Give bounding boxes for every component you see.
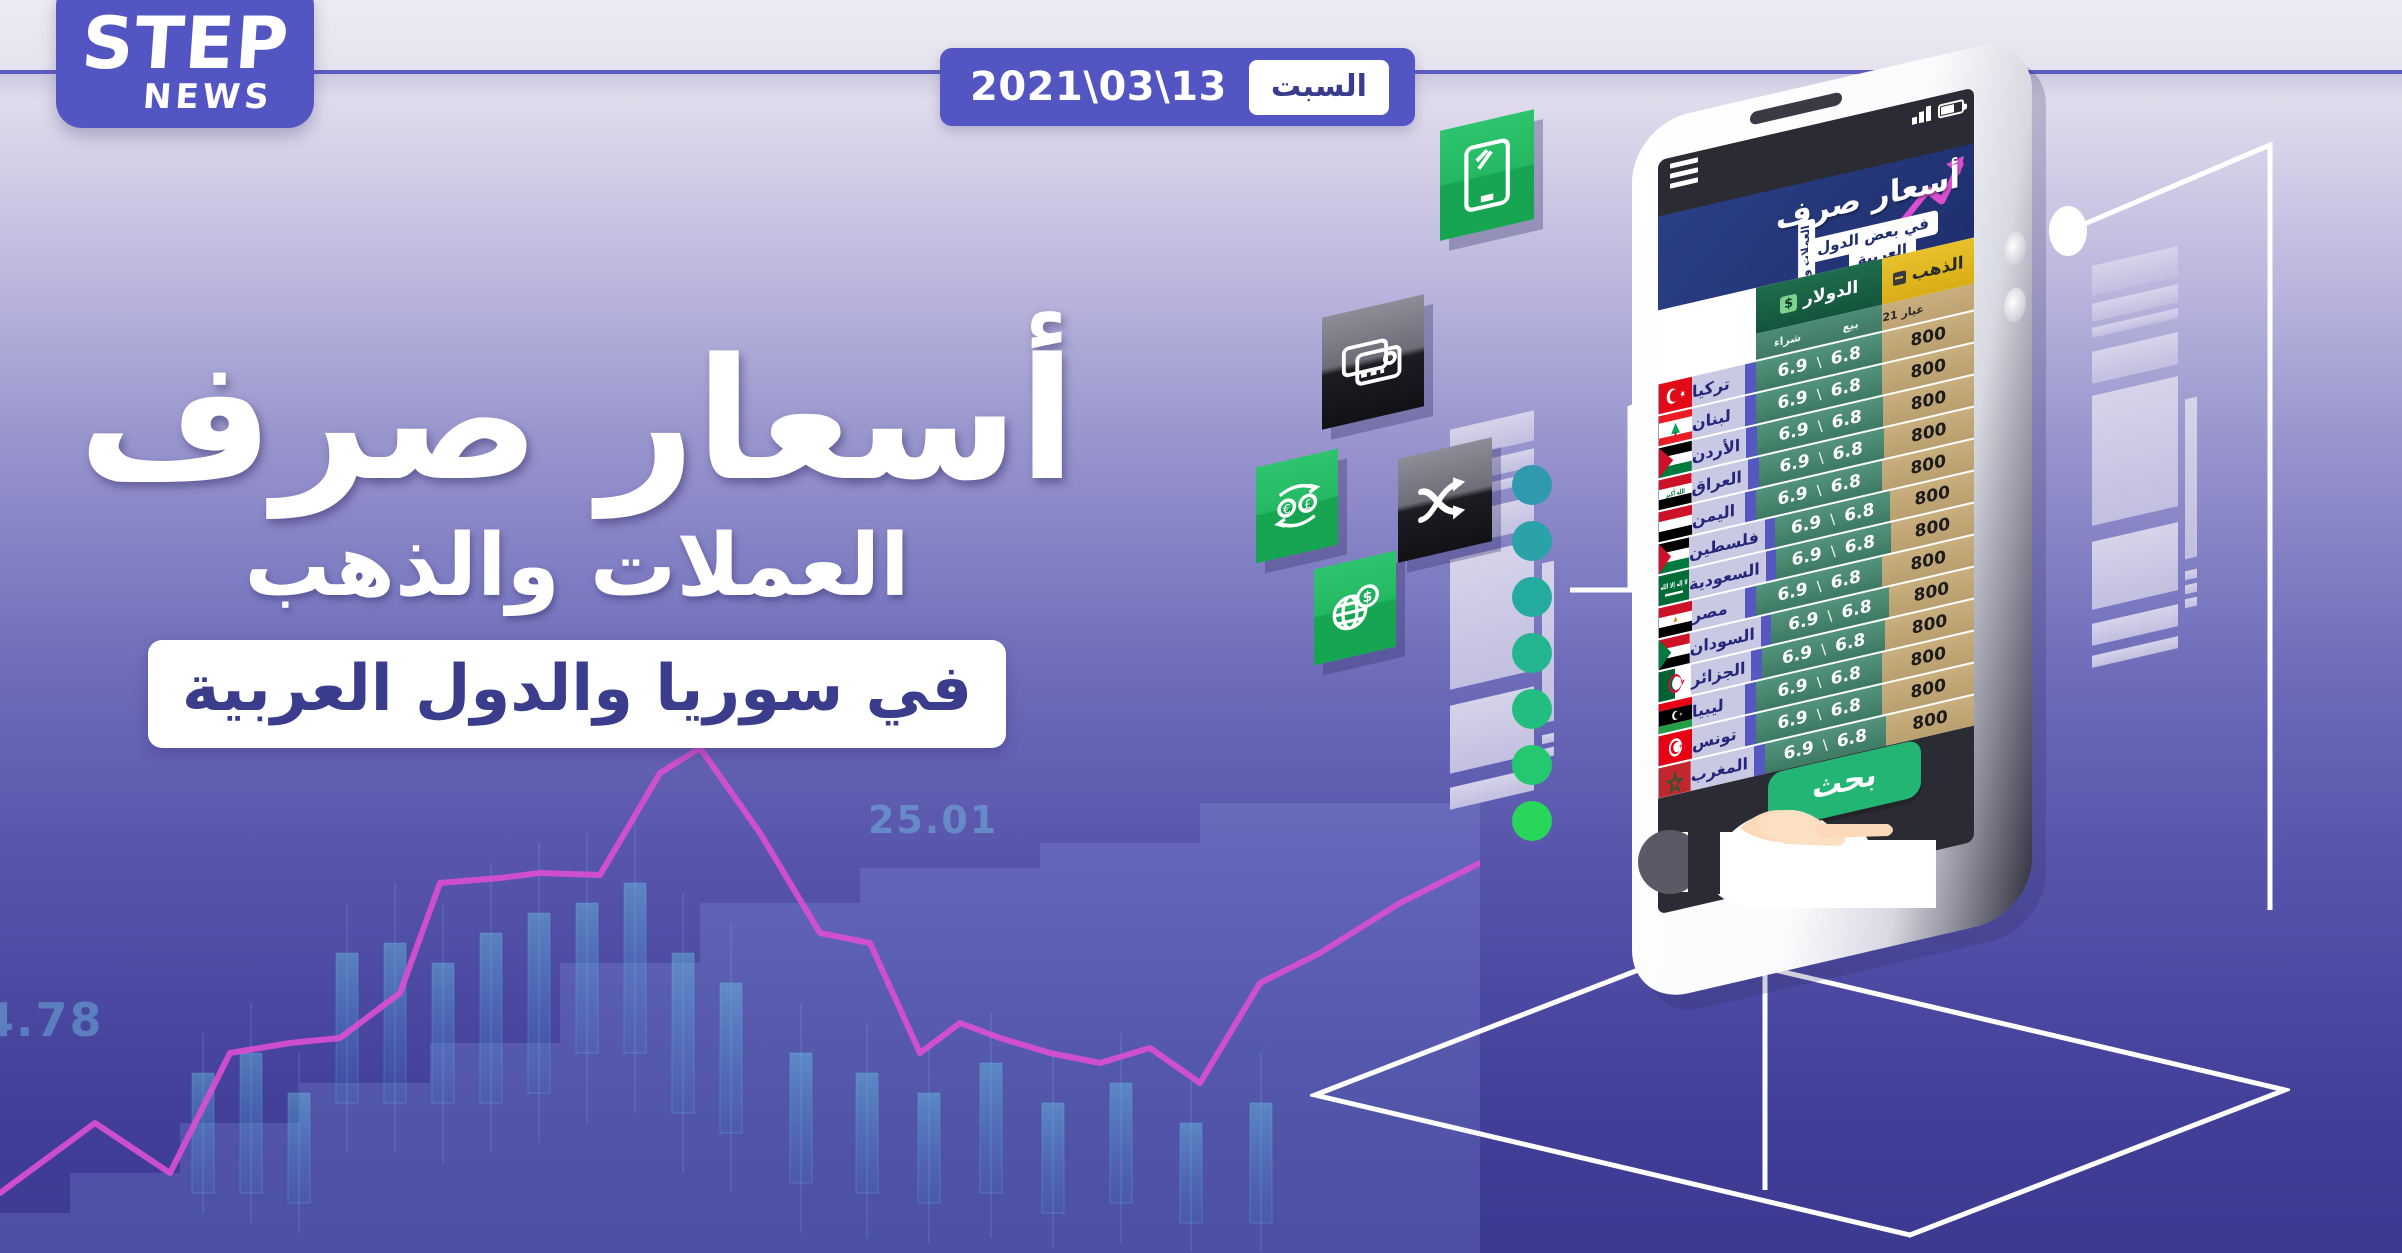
minus-icon — [1893, 270, 1906, 286]
dollar-buy-value: 6.8 — [1831, 375, 1861, 402]
dollar-sell-value: 6.9 — [1778, 355, 1808, 382]
rate-separator: \ — [1817, 481, 1822, 500]
credit-cards-icon[interactable] — [1322, 294, 1424, 430]
row-gap — [1746, 426, 1757, 459]
date-label: 2021\03\13 — [970, 64, 1227, 110]
table-header-dollar-label: الدولار — [1803, 277, 1858, 310]
row-gap — [1766, 549, 1776, 581]
row-gap — [1765, 517, 1775, 549]
pointing-hand — [1636, 780, 1936, 950]
row-gap — [1745, 714, 1756, 747]
dot-3 — [1512, 577, 1552, 617]
hamburger-menu-icon[interactable] — [1670, 157, 1698, 193]
row-gap — [1745, 362, 1756, 395]
rate-separator: \ — [1830, 510, 1835, 529]
dollar-sell-value: 6.9 — [1778, 483, 1808, 510]
globe-dollar-icon[interactable]: $ — [1314, 551, 1396, 666]
rate-separator: \ — [1817, 385, 1822, 404]
rate-separator: \ — [1821, 640, 1826, 659]
row-gap — [1745, 586, 1756, 619]
row-gap — [1761, 614, 1771, 646]
chart-annotation-1: 4.78 — [0, 993, 104, 1047]
dollar-sell-value: 6.9 — [1778, 579, 1808, 606]
rate-separator: \ — [1817, 673, 1822, 692]
country-flag-icon — [1658, 537, 1689, 574]
dot-7 — [1512, 801, 1552, 841]
rate-separator: \ — [1818, 416, 1823, 435]
row-gap — [1754, 744, 1765, 776]
logo-news-text: NEWS — [142, 80, 274, 114]
row-gap — [1745, 682, 1756, 715]
dollar-sell-value: 6.9 — [1778, 387, 1808, 414]
dollar-sell-value: 6.9 — [1779, 450, 1809, 477]
dollar-buy-value: 6.8 — [1835, 630, 1865, 657]
currency-exchange-icon[interactable]: € £ — [1256, 449, 1338, 564]
battery-icon — [1938, 99, 1964, 119]
dot-4 — [1512, 633, 1552, 673]
mobile-phone-icon[interactable] — [1440, 109, 1534, 241]
dollar-buy-value: 6.8 — [1844, 500, 1874, 527]
dollar-buy-value: 6.8 — [1837, 725, 1867, 752]
exchange-rate-table: الدولار $ الذهب شراء بيع عيار 21 — [1658, 238, 1974, 799]
dollar-buy-value: 6.8 — [1831, 471, 1861, 498]
table-header-gold-label: الذهب — [1912, 253, 1964, 285]
dollar-buy-value: 6.8 — [1831, 567, 1861, 594]
dollar-sell-value: 6.9 — [1778, 707, 1808, 734]
headline-line-1: أسعار صرف — [52, 330, 1102, 511]
chart-annotation-2: 25.01 — [868, 798, 998, 842]
row-gap — [1745, 394, 1756, 427]
dollar-sell-value: 6.9 — [1784, 738, 1814, 765]
dollar-buy-value: 6.8 — [1831, 343, 1861, 370]
headline-line-2: العملات والذهب — [52, 517, 1102, 616]
rate-separator: \ — [1831, 541, 1836, 560]
rate-separator: \ — [1819, 448, 1824, 467]
dollar-sell-value: 6.9 — [1792, 544, 1822, 571]
dot-1 — [1512, 465, 1552, 505]
dollar-sell-value: 6.9 — [1788, 608, 1818, 635]
dollar-buy-value: 6.8 — [1833, 438, 1863, 465]
dollar-badge-icon: $ — [1780, 293, 1797, 314]
poster-canvas: 4.78 25.01 STEP NEWS السبت 2021\03\13 أس… — [0, 0, 2402, 1253]
country-flag-icon: لا إله إلا الله — [1658, 569, 1689, 606]
row-gap — [1748, 457, 1759, 490]
row-gap — [1751, 648, 1762, 680]
dollar-buy-value: 6.8 — [1831, 695, 1861, 722]
rate-separator: \ — [1817, 577, 1822, 596]
dollar-buy-value: 6.8 — [1831, 663, 1861, 690]
logo-step-text: STEP — [79, 9, 291, 78]
rate-separator: \ — [1823, 735, 1828, 754]
dot-5 — [1512, 689, 1552, 729]
dot-6 — [1512, 745, 1552, 785]
dollar-sell-value: 6.9 — [1791, 512, 1821, 539]
dollar-sell-value: 6.9 — [1778, 675, 1808, 702]
rate-separator: \ — [1817, 353, 1822, 372]
candlestick-series — [192, 813, 1272, 1251]
dollar-sell-value: 6.9 — [1782, 642, 1812, 669]
dollar-buy-value: 6.8 — [1841, 596, 1871, 623]
floor-crosslines — [1310, 940, 2290, 1240]
country-flag-icon — [1658, 633, 1690, 670]
dollar-sell-value: 6.9 — [1778, 419, 1808, 446]
shuffle-transfer-icon[interactable] — [1398, 437, 1492, 563]
isometric-scene: € £ $ — [1240, 60, 2402, 1250]
svg-text:$: $ — [1362, 589, 1372, 607]
step-news-logo[interactable]: STEP NEWS — [56, 0, 314, 128]
signal-bars-icon — [1912, 105, 1931, 124]
dot-2 — [1512, 521, 1552, 561]
svg-text:£: £ — [1304, 496, 1312, 513]
svg-text:€: € — [1283, 501, 1291, 518]
smartphone-mockup: أسعار صرف العملات والذهب في بعض الدول ال… — [1632, 80, 2032, 960]
headline-line-3: في سوريا والدول العربية — [148, 640, 1006, 748]
status-bar — [1912, 98, 1964, 125]
table-body: تركيا6.9\6.8800لبنان6.9\6.8800الأردن6.9\… — [1658, 312, 1974, 799]
rate-separator: \ — [1817, 705, 1822, 724]
dollar-buy-value: 6.8 — [1832, 406, 1862, 433]
headline-block: أسعار صرف العملات والذهب في سوريا والدول… — [52, 330, 1102, 748]
dollar-buy-value: 6.8 — [1845, 531, 1875, 558]
rate-separator: \ — [1827, 606, 1832, 625]
row-gap — [1745, 490, 1756, 523]
